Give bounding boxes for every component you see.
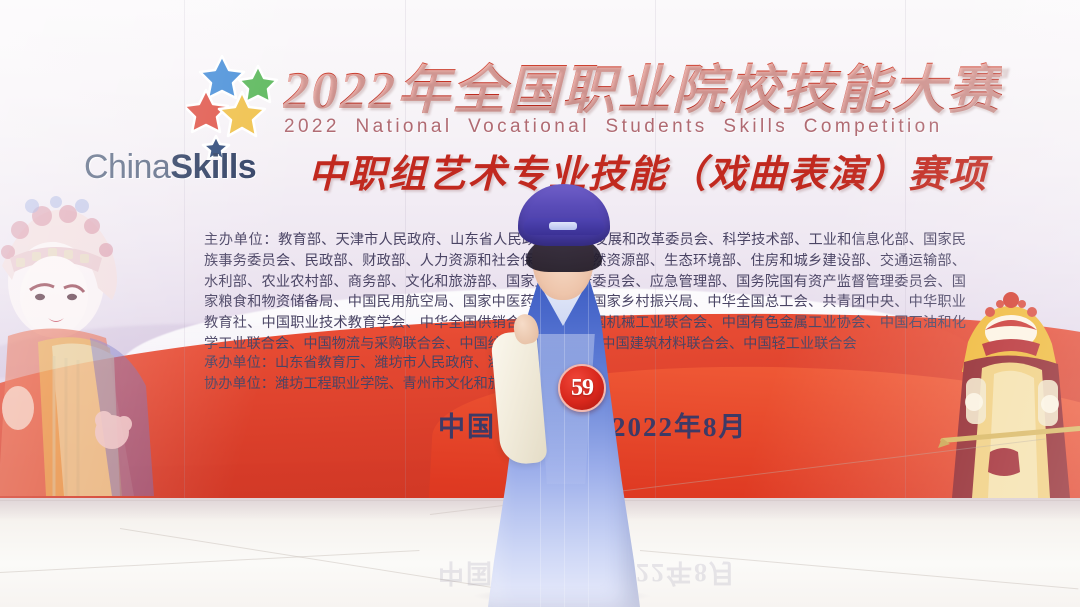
board-seam	[184, 0, 185, 498]
opera-hat	[518, 184, 610, 246]
page-title-chinese: 2022年全国职业院校技能大赛	[283, 48, 1002, 124]
photo-scene: ChinaSkills 2022年全国职业院校技能大赛 2022 Nationa…	[0, 0, 1080, 607]
five-stars-logo	[186, 50, 298, 160]
contestant-number: 59	[571, 375, 593, 402]
robe-fold	[588, 276, 589, 607]
undertaker-label: 承办单位：	[204, 355, 275, 371]
coorganizer-label: 协办单位：	[204, 376, 275, 392]
host-label: 主办单位：	[204, 232, 278, 248]
brand-name-first: China	[84, 148, 170, 186]
floor-tile-line	[0, 550, 419, 573]
chinaskills-logo-text: ChinaSkills	[84, 148, 256, 187]
contestant-number-badge: 59	[558, 364, 606, 412]
performer: 59	[470, 184, 660, 607]
opera-hat-jewel	[549, 222, 577, 230]
page-title-english: 2022 National Vocational Students Skills…	[284, 116, 943, 138]
opera-character-left	[0, 196, 170, 496]
brand-name-second: Skills	[170, 148, 256, 186]
